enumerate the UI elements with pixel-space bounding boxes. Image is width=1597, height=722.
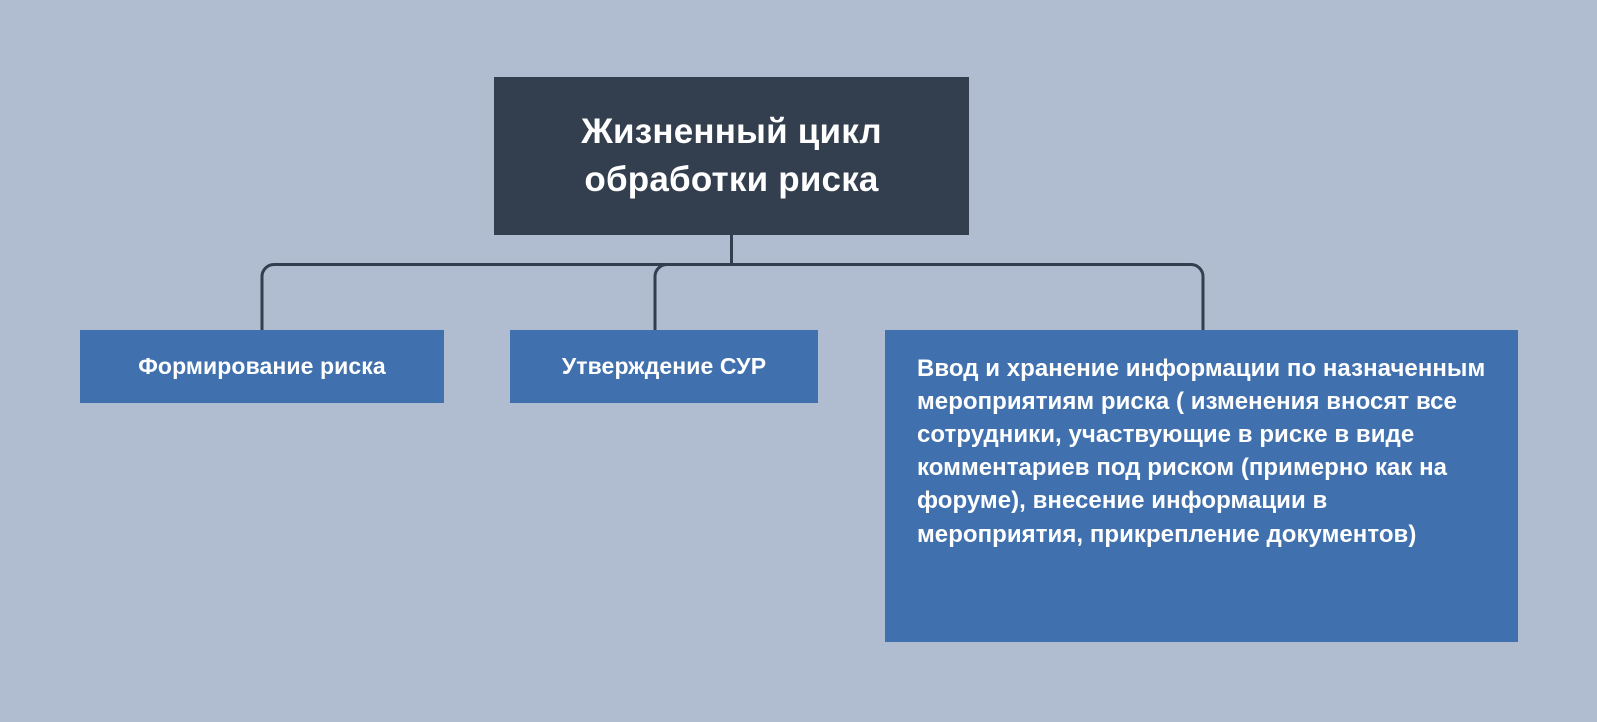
connector-branch-2 [732, 265, 1204, 331]
leaf-node-label: Формирование риска [138, 351, 386, 382]
root-node-lifecycle[interactable]: Жизненный цикл обработки риска [494, 77, 969, 235]
leaf-node-label: Ввод и хранение информации по назначенны… [917, 352, 1488, 551]
diagram-canvas: Жизненный цикл обработки риска Формирова… [0, 0, 1597, 722]
leaf-node-information-entry-storage[interactable]: Ввод и хранение информации по назначенны… [885, 330, 1518, 642]
leaf-node-label: Утверждение СУР [562, 351, 766, 382]
connector-branch-1 [655, 265, 732, 331]
leaf-node-sur-approval[interactable]: Утверждение СУР [510, 330, 818, 403]
connector-branch-0 [262, 265, 732, 331]
leaf-node-risk-formation[interactable]: Формирование риска [80, 330, 444, 403]
root-node-label: Жизненный цикл обработки риска [518, 108, 945, 203]
